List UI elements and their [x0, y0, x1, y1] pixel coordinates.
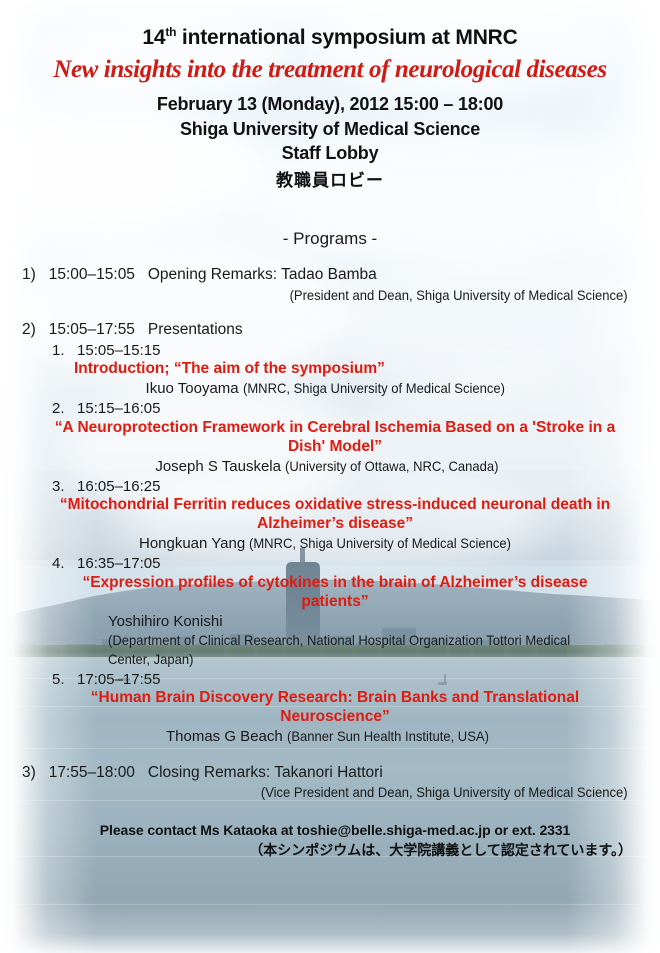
- speaker-name: Ikuo Tooyama: [146, 380, 243, 397]
- item-number: 2): [22, 321, 36, 338]
- item-label: Closing Remarks: Takanori Hattori: [148, 764, 383, 781]
- opening-affiliation: (President and Dean, Shiga University of…: [66, 286, 648, 304]
- closing-affiliation: (Vice President and Dean, Shiga Universi…: [66, 783, 648, 801]
- poster-content: 14th international symposium at MNRC New…: [0, 0, 660, 953]
- programs-list: 1) 15:00–15:05 Opening Remarks: Tadao Ba…: [0, 265, 660, 860]
- event-datetime: February 13 (Monday), 2012 15:00 – 18:00: [0, 92, 660, 116]
- item-time: 17:55–18:00: [49, 764, 135, 781]
- speaker-org: (Department of Clinical Research, Nation…: [108, 631, 603, 668]
- talk-time: 15:15–16:05: [77, 400, 160, 417]
- event-venue-japanese: 教職員ロビー: [0, 166, 660, 191]
- talk-title-1: Introduction; “The aim of the symposium”: [22, 360, 648, 379]
- programs-heading: - Programs -: [0, 229, 660, 249]
- talk-title-3: “Mitochondrial Ferritin reduces oxidativ…: [22, 496, 648, 534]
- talk-time: 17:05–17:55: [77, 671, 160, 688]
- talk-number: 4.: [52, 555, 65, 572]
- item-label: Opening Remarks: Tadao Bamba: [148, 266, 377, 283]
- spacer: [22, 747, 648, 763]
- talk-number: 5.: [52, 671, 65, 688]
- event-institution: Shiga University of Medical Science: [0, 117, 660, 141]
- talk-number: 1.: [52, 342, 65, 359]
- title-rest: international symposium at MNRC: [176, 26, 517, 49]
- talk-time: 15:05–15:15: [77, 342, 160, 359]
- talk-speaker-4: Yoshihiro Konishi (Department of Clinica…: [22, 612, 648, 670]
- talk-header-3: 3. 16:05–16:25: [22, 477, 648, 497]
- item-number: 1): [22, 266, 36, 283]
- title-ordinal-suffix: th: [165, 25, 176, 39]
- item-time: 15:00–15:05: [49, 266, 135, 283]
- subtitle: New insights into the treatment of neuro…: [0, 57, 660, 83]
- speaker-org: (MNRC, Shiga University of Medical Scien…: [249, 534, 511, 552]
- talk-number: 3.: [52, 478, 65, 495]
- talk-header-4: 4. 16:35–17:05: [22, 554, 648, 574]
- talk-header-2: 2. 15:15–16:05: [22, 399, 648, 419]
- spacer: [22, 304, 648, 320]
- talk-time: 16:35–17:05: [77, 555, 160, 572]
- program-item-opening: 1) 15:00–15:05 Opening Remarks: Tadao Ba…: [22, 265, 648, 285]
- speaker-name: Hongkuan Yang: [139, 535, 249, 552]
- page-title: 14th international symposium at MNRC: [0, 0, 660, 49]
- program-item-closing: 3) 17:55–18:00 Closing Remarks: Takanori…: [22, 763, 648, 783]
- contact-info: Please contact Ms Kataoka at toshie@bell…: [22, 822, 648, 838]
- title-number: 14: [142, 26, 165, 49]
- speaker-name: Thomas G Beach: [166, 728, 287, 745]
- talk-title-5: “Human Brain Discovery Research: Brain B…: [22, 689, 648, 727]
- talk-header-1: 1. 15:05–15:15: [22, 341, 648, 361]
- item-time: 15:05–17:55: [49, 321, 135, 338]
- item-label: Presentations: [148, 321, 243, 338]
- talk-speaker-2: Joseph S Tauskela (University of Ottawa,…: [22, 457, 648, 477]
- speaker-name: Joseph S Tauskela: [155, 458, 285, 475]
- event-venue: Staff Lobby: [0, 141, 660, 165]
- talk-time: 16:05–16:25: [77, 478, 160, 495]
- talk-header-5: 5. 17:05–17:55: [22, 670, 648, 690]
- speaker-name: Yoshihiro Konishi: [108, 613, 223, 630]
- talk-number: 2.: [52, 400, 65, 417]
- talk-speaker-5: Thomas G Beach (Banner Sun Health Instit…: [22, 727, 648, 747]
- note-japanese: （本シンポジウムは、大学院講義として認定されています。）: [22, 840, 648, 860]
- talk-speaker-3: Hongkuan Yang (MNRC, Shiga University of…: [22, 534, 648, 554]
- program-item-presentations: 2) 15:05–17:55 Presentations: [22, 320, 648, 340]
- speaker-org: (Banner Sun Health Institute, USA): [287, 727, 489, 745]
- item-number: 3): [22, 764, 36, 781]
- talk-title-2: “A Neuroprotection Framework in Cerebral…: [22, 419, 648, 457]
- speaker-org: (MNRC, Shiga University of Medical Scien…: [243, 379, 505, 397]
- talk-speaker-1: Ikuo Tooyama (MNRC, Shiga University of …: [22, 379, 648, 399]
- symposium-poster: 14th international symposium at MNRC New…: [0, 0, 660, 953]
- speaker-org: (University of Ottawa, NRC, Canada): [285, 457, 498, 475]
- talk-title-4: “Expression profiles of cytokines in the…: [22, 574, 648, 612]
